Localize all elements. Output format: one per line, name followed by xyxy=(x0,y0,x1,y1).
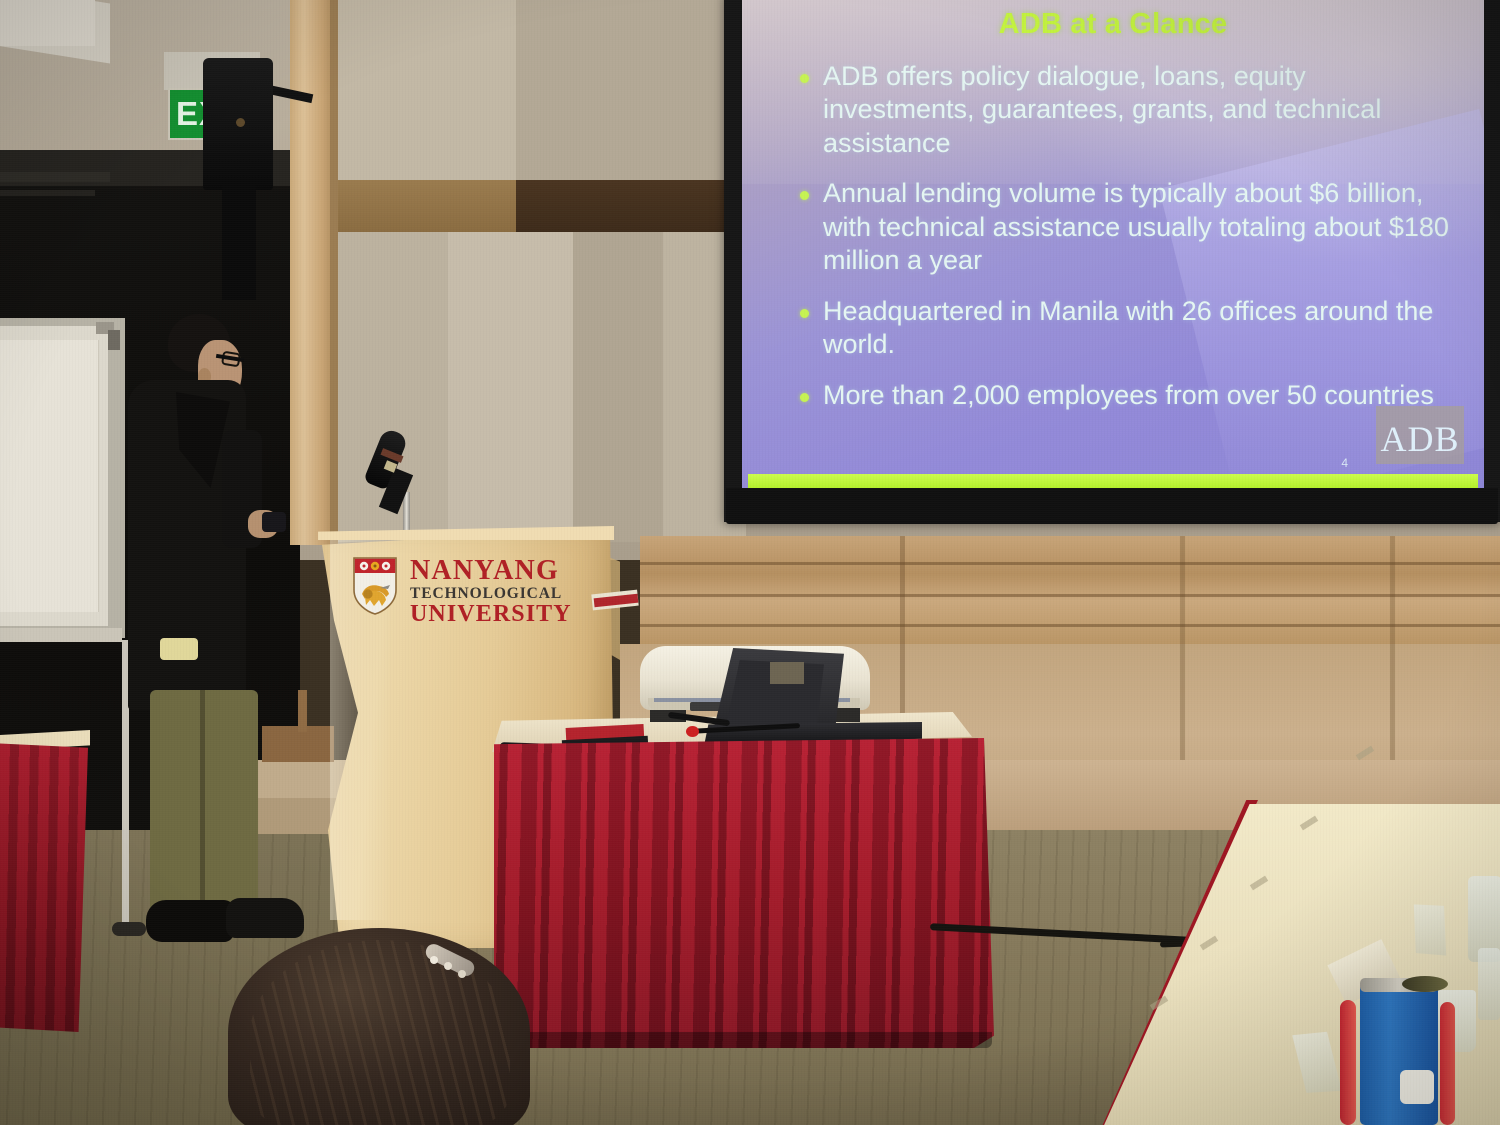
projected-slide: ADB at a Glance ADB offers policy dialog… xyxy=(742,0,1484,492)
ceiling-panel-edge xyxy=(0,0,95,46)
wall-wood-band-dark xyxy=(516,180,746,232)
bullet-dot-icon xyxy=(800,309,809,318)
slide-bullet-item: Annual lending volume is typically about… xyxy=(800,177,1460,277)
slide-number: 4 xyxy=(1341,456,1348,470)
av-table-hem xyxy=(498,1032,992,1048)
wood-pillar-edge xyxy=(330,0,338,545)
slide-bullet-item: ADB offers policy dialogue, loans, equit… xyxy=(800,60,1460,160)
flipchart-surface xyxy=(0,340,99,612)
wall-rail-1 xyxy=(0,172,110,182)
ntu-line-3: UNIVERSITY xyxy=(410,602,590,627)
slide-bullet-text: Annual lending volume is typically about… xyxy=(823,177,1460,277)
slide-accent-bar xyxy=(748,474,1478,488)
flipchart-tray xyxy=(0,628,122,642)
wall-wood-band-left xyxy=(336,180,516,232)
wall-wood-band-right xyxy=(640,536,1500,644)
ntu-line-1: NANYANG xyxy=(410,556,590,586)
wall-panel-5 xyxy=(573,232,663,542)
presenter-shoe-left xyxy=(146,900,234,942)
slide-title: ADB at a Glance xyxy=(742,8,1484,41)
red-cord-right xyxy=(1440,1002,1455,1125)
slide-bullet-item: Headquartered in Manila with 26 offices … xyxy=(800,295,1460,362)
white-cap-object xyxy=(1400,1070,1434,1104)
adb-logo-text: ADB xyxy=(1376,418,1464,460)
ntu-crest-icon xyxy=(352,556,398,616)
hair-bead xyxy=(458,970,466,978)
bullet-dot-icon xyxy=(800,191,809,200)
red-cord-left xyxy=(1340,1000,1356,1125)
presenter-shoe-right xyxy=(226,898,304,938)
slide-bullet-text: ADB offers policy dialogue, loans, equit… xyxy=(823,60,1460,160)
presentation-photo: EX ADB at a Glance ADB offers policy dia… xyxy=(0,0,1500,1125)
wall-panel-2 xyxy=(516,0,746,180)
flipchart-foot xyxy=(112,922,146,936)
wall-rail-2 xyxy=(0,190,95,196)
presenter-trouser-crease xyxy=(200,690,205,918)
presenter-cuff xyxy=(160,638,198,660)
dark-object xyxy=(1402,976,1448,992)
speaker-stem xyxy=(222,180,256,300)
hair-bead xyxy=(430,956,438,964)
slide-bullet-list: ADB offers policy dialogue, loans, equit… xyxy=(800,60,1460,429)
slide-bullet-item: More than 2,000 employees from over 50 c… xyxy=(800,379,1460,412)
laptop-badge xyxy=(770,662,804,684)
slide-bullet-text: More than 2,000 employees from over 50 c… xyxy=(823,379,1434,412)
step-rail xyxy=(298,690,307,732)
screen-edge-right xyxy=(1484,0,1500,522)
podium-wordmark: NANYANG TECHNOLOGICAL UNIVERSITY xyxy=(410,556,590,628)
adb-logo: ADB xyxy=(1376,406,1464,464)
bullet-dot-icon xyxy=(800,74,809,83)
speaker-mount-knob xyxy=(236,118,245,127)
screen-edge-left xyxy=(724,0,740,522)
wall-panel-4 xyxy=(448,232,573,542)
wall-panel-1 xyxy=(336,0,516,180)
av-table-pleats xyxy=(494,738,994,1048)
bullet-dot-icon xyxy=(800,393,809,402)
power-indicator xyxy=(686,726,699,737)
left-table-pleats xyxy=(0,742,88,1032)
slide-bullet-text: Headquartered in Manila with 26 offices … xyxy=(823,295,1460,362)
drinking-glass-2[interactable] xyxy=(1478,948,1500,1020)
presenter-remote[interactable] xyxy=(262,512,286,532)
hair-bead xyxy=(444,962,452,970)
screen-bottom-bar xyxy=(726,488,1498,524)
ntu-line-2: TECHNOLOGICAL xyxy=(410,586,590,602)
flipchart-clip-arm xyxy=(108,330,120,350)
